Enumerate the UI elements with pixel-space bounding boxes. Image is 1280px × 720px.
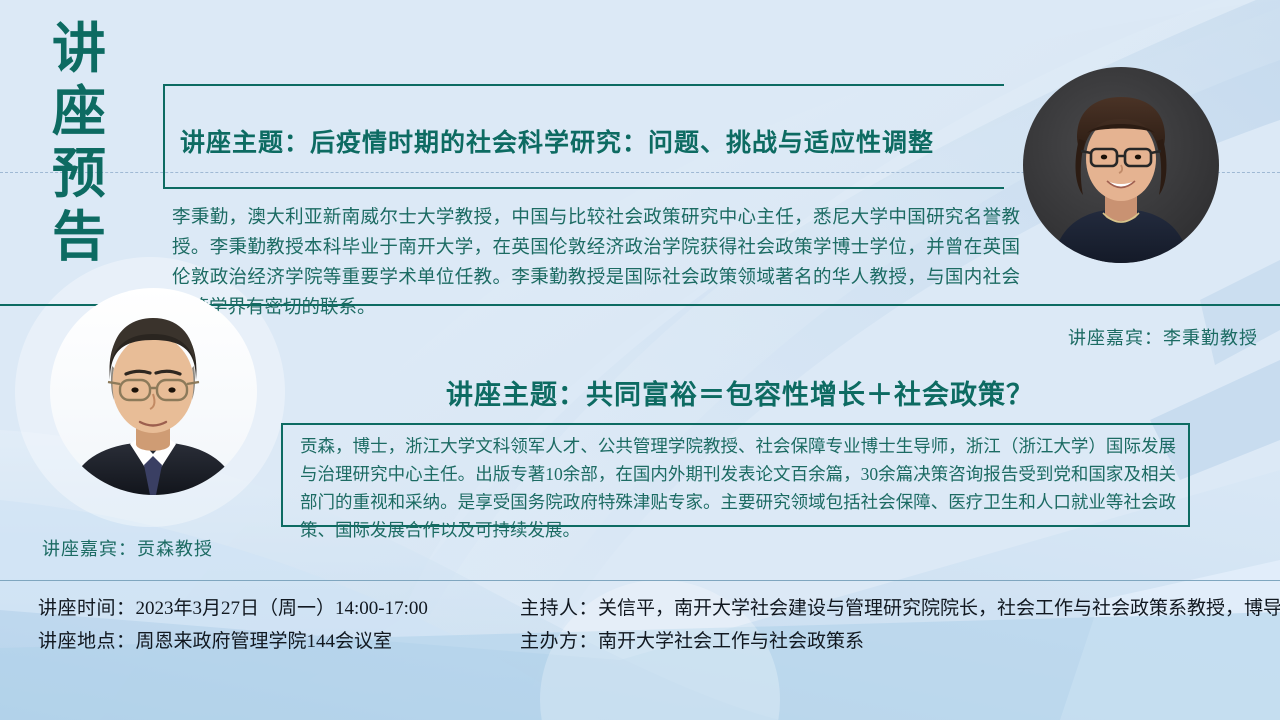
footer-organizer-row: 主办方：南开大学社会工作与社会政策系	[520, 625, 1280, 658]
lecture-announcement-poster: 讲 座 预 告 讲座主题：后疫情时期的社会科学研究：问题、挑战与适应性调整 李秉…	[0, 0, 1280, 720]
vertical-title-char-2: 座	[44, 81, 114, 144]
footer-time-label: 讲座时间：	[38, 598, 136, 619]
footer-left-column: 讲座时间：2023年3月27日（周一）14:00-17:00 讲座地点：周恩来政…	[38, 592, 428, 658]
lecture1-speaker-bio: 李秉勤，澳大利亚新南威尔士大学教授，中国与比较社会政策研究中心主任，悉尼大学中国…	[172, 203, 1020, 324]
lecture1-title: 讲座主题：后疫情时期的社会科学研究：问题、挑战与适应性调整	[180, 123, 1000, 159]
footer-place-row: 讲座地点：周恩来政府管理学院144会议室	[38, 625, 428, 658]
poster-vertical-title: 讲 座 预 告	[44, 18, 114, 269]
vertical-title-char-4: 告	[44, 206, 114, 269]
footer-organizer-label: 主办方：	[520, 631, 598, 652]
footer-time-value: 2023年3月27日（周一）14:00-17:00	[136, 598, 428, 619]
footer-time-row: 讲座时间：2023年3月27日（周一）14:00-17:00	[38, 592, 428, 625]
footer-organizer-value: 南开大学社会工作与社会政策系	[598, 631, 864, 652]
footer-right-column: 主持人：关信平，南开大学社会建设与管理研究院院长，社会工作与社会政策系教授，博导…	[520, 592, 1280, 658]
footer-place-value: 周恩来政府管理学院144会议室	[136, 631, 393, 652]
lecture2-speaker-bio: 贡森，博士，浙江大学文科领军人才、公共管理学院教授、社会保障专业博士生导师，浙江…	[300, 432, 1176, 544]
lecture2-guest-caption: 讲座嘉宾：贡森教授	[42, 535, 213, 561]
footer-host-label: 主持人：	[520, 598, 598, 619]
speaker-portrait-male-icon	[50, 288, 257, 495]
lecture1-speaker-photo	[1023, 67, 1219, 263]
lecture2-speaker-photo	[50, 288, 257, 495]
footer-host-row: 主持人：关信平，南开大学社会建设与管理研究院院长，社会工作与社会政策系教授，博导	[520, 592, 1280, 625]
vertical-title-char-1: 讲	[44, 18, 114, 81]
footer-host-value: 关信平，南开大学社会建设与管理研究院院长，社会工作与社会政策系教授，博导	[598, 598, 1280, 619]
vertical-title-char-3: 预	[44, 143, 114, 206]
thin-divider-footer	[0, 580, 1280, 581]
speaker-portrait-female-icon	[1023, 67, 1219, 263]
footer-place-label: 讲座地点：	[38, 631, 136, 652]
lecture2-title: 讲座主题：共同富裕＝包容性增长＋社会政策？	[280, 373, 1200, 412]
